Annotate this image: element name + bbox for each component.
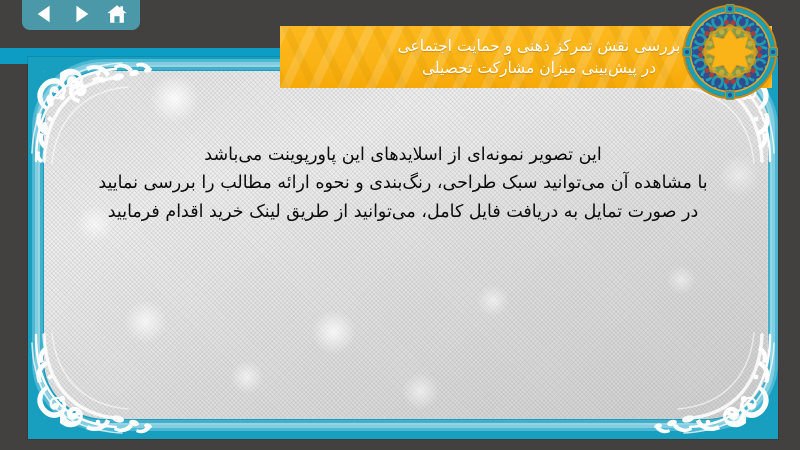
persian-mandala-medallion bbox=[681, 3, 779, 101]
panel-corner-mask bbox=[44, 71, 768, 419]
body-line-2: با مشاهده آن می‌توانید سبک طراحی، رنگ‌بن… bbox=[54, 169, 752, 197]
navigation-bar bbox=[22, 0, 140, 30]
decorative-frame: این تصویر نمونه‌ای از اسلایدهای این پاور… bbox=[28, 57, 778, 439]
body-text-block: این تصویر نمونه‌ای از اسلایدهای این پاور… bbox=[28, 141, 778, 226]
body-line-3: در صورت تمایل به دریافت فایل کامل، می‌تو… bbox=[54, 198, 752, 226]
triangle-right-icon[interactable] bbox=[70, 3, 92, 25]
content-panel bbox=[44, 71, 768, 419]
body-line-1: این تصویر نمونه‌ای از اسلایدهای این پاور… bbox=[54, 141, 752, 169]
home-icon[interactable] bbox=[106, 3, 128, 25]
triangle-left-icon[interactable] bbox=[34, 3, 56, 25]
slide-root: بررسی نقش تمرکز ذهنی و حمایت اجتماعی در … bbox=[0, 0, 800, 450]
title-line-2: در پیش‌بینی میزان مشارکت تحصیلی bbox=[422, 57, 656, 79]
title-line-1: بررسی نقش تمرکز ذهنی و حمایت اجتماعی bbox=[398, 35, 681, 57]
